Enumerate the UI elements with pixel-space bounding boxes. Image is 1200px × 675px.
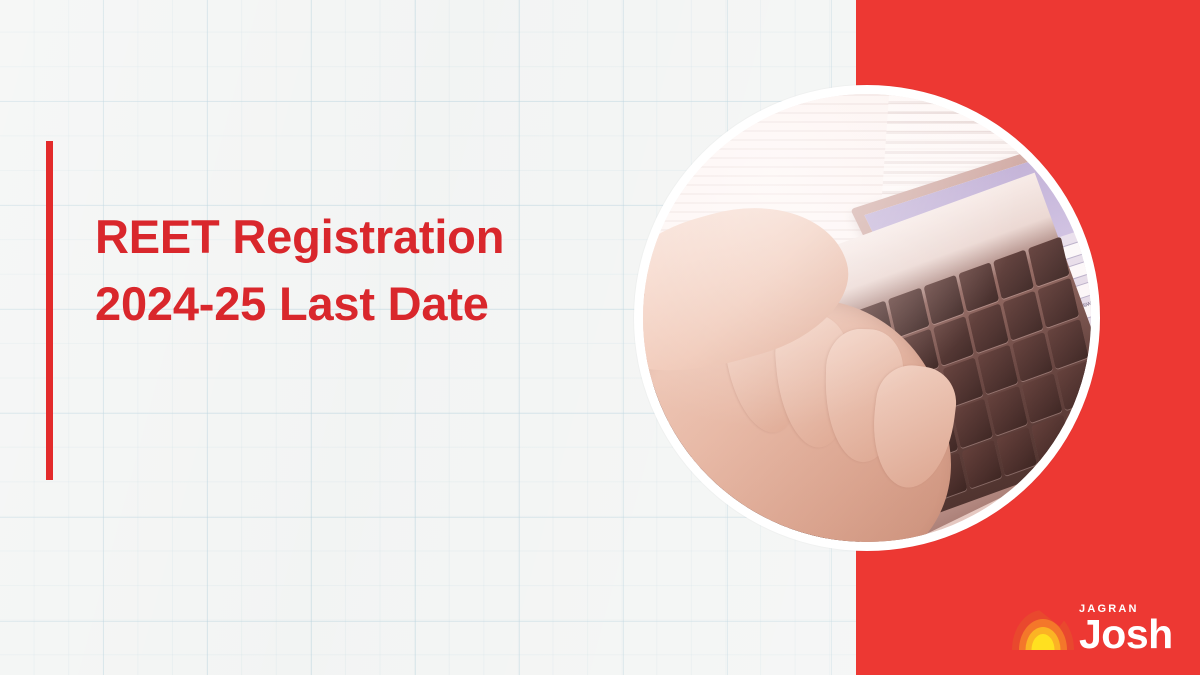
hero-photo-circle: Reg First Name Last Name Email	[634, 85, 1100, 551]
keyboard-key	[1022, 373, 1063, 423]
logo-wordmark: JAGRAN Josh	[1079, 604, 1173, 654]
keyboard-key	[958, 262, 999, 312]
keyboard-key	[961, 439, 1002, 489]
headline-accent-bar	[46, 141, 53, 480]
keyboard-key	[1047, 319, 1088, 369]
keyboard-key	[1003, 290, 1044, 340]
keyboard-key	[1057, 360, 1091, 410]
hero-photo: Reg First Name Last Name Email	[643, 94, 1091, 542]
banner-root: REET Registration 2024-25 Last Date Reg	[0, 0, 1200, 675]
keyboard-key	[923, 275, 964, 325]
keyboard-key	[933, 316, 974, 366]
jagran-josh-logo[interactable]: JAGRAN Josh	[1012, 592, 1182, 654]
sun-icon	[1012, 610, 1074, 650]
keyboard-key	[993, 249, 1034, 299]
logo-josh-text: Josh	[1079, 616, 1173, 654]
keyboard-key	[977, 344, 1018, 394]
headline-line-1: REET Registration	[95, 203, 615, 270]
keyboard-key	[996, 426, 1037, 476]
keyboard-key	[968, 303, 1009, 353]
keyboard-key	[1012, 331, 1053, 381]
keyboard-key	[1038, 278, 1079, 328]
headline-line-2: 2024-25 Last Date	[95, 270, 615, 337]
keyboard-key	[1031, 414, 1072, 464]
page-title: REET Registration 2024-25 Last Date	[95, 203, 615, 337]
keyboard-key	[951, 398, 992, 448]
keyboard-key	[987, 385, 1028, 435]
